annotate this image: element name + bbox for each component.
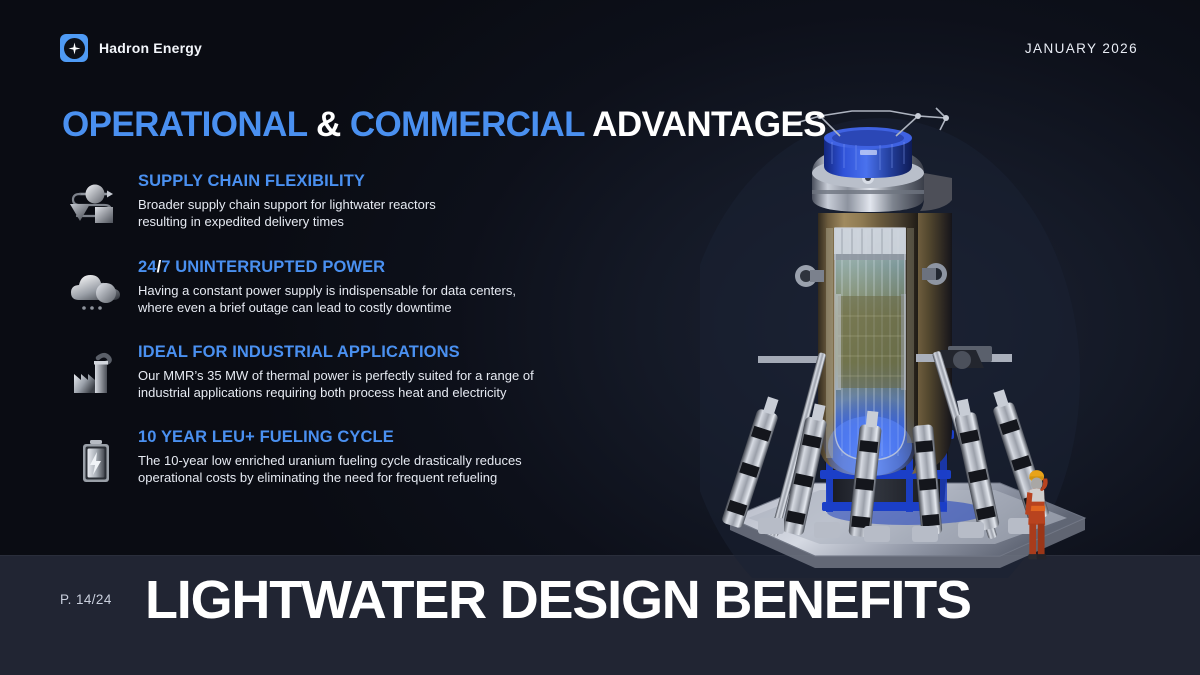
footer-title: LIGHTWATER DESIGN BENEFITS — [145, 573, 971, 627]
sparkle-star-icon — [60, 34, 88, 62]
page-title-part-1: OPERATIONAL — [62, 105, 307, 144]
list-item-title: 10 YEAR LEU+ FUELING CYCLE — [138, 428, 660, 447]
list-item-description: Having a constant power supply is indisp… — [138, 282, 608, 316]
page-number: P. 14/24 — [60, 592, 112, 607]
advantages-list: SUPPLY CHAIN FLEXIBILITY Broader supply … — [60, 172, 660, 513]
list-item: 24/7 UNINTERRUPTED POWER Having a consta… — [60, 258, 660, 343]
slide-root: Hadron Energy JANUARY 2026 OPERATIONAL &… — [0, 0, 1200, 675]
nuclear-reactor-cutaway-render — [700, 78, 1200, 578]
page-title-part-3: COMMERCIAL — [350, 105, 584, 144]
page-title-part-4: ADVANTAGES — [584, 105, 826, 144]
list-item-description: The 10-year low enriched uranium fueling… — [138, 452, 608, 486]
list-item-title: SUPPLY CHAIN FLEXIBILITY — [138, 172, 660, 191]
list-item-title: 24/7 UNINTERRUPTED POWER — [138, 258, 660, 277]
page-title-part-2: & — [307, 105, 350, 144]
list-item-description: Broader supply chain support for lightwa… — [138, 196, 608, 230]
factory-icon — [64, 345, 128, 409]
brand-name: Hadron Energy — [99, 40, 202, 56]
list-item: 10 YEAR LEU+ FUELING CYCLE The 10-year l… — [60, 428, 660, 513]
list-item: IDEAL FOR INDUSTRIAL APPLICATIONS Our MM… — [60, 343, 660, 428]
supply-chain-flow-icon — [64, 174, 128, 238]
list-item: SUPPLY CHAIN FLEXIBILITY Broader supply … — [60, 172, 660, 258]
list-item-description: Our MMR’s 35 MW of thermal power is perf… — [138, 367, 608, 401]
brand-logo-group[interactable]: Hadron Energy — [60, 34, 202, 62]
list-item-title: IDEAL FOR INDUSTRIAL APPLICATIONS — [138, 343, 660, 362]
date-label: JANUARY 2026 — [1025, 41, 1138, 56]
page-title: OPERATIONAL & COMMERCIAL ADVANTAGES — [62, 106, 826, 145]
cloud-icon — [64, 260, 128, 324]
battery-bolt-icon — [64, 430, 128, 494]
